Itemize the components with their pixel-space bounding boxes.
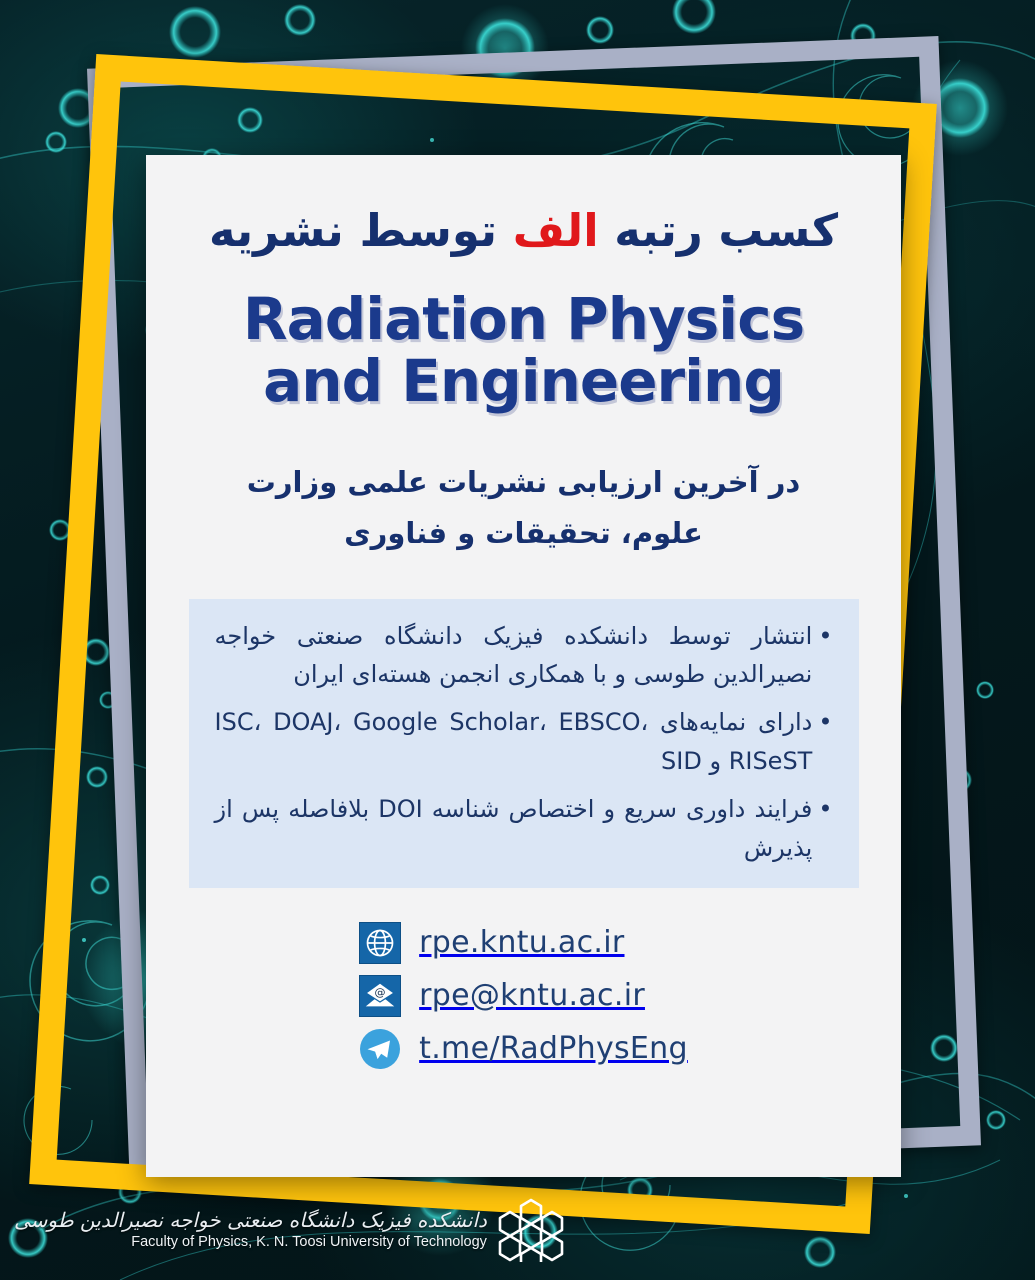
- contact-website[interactable]: rpe.kntu.ac.ir: [359, 922, 688, 964]
- branding-text: دانشکده فیزیک دانشگاه صنعتی خواجه نصیرال…: [14, 1208, 487, 1250]
- feature-text: فرایند داوری سریع و اختصاص شناسه DOI بلا…: [215, 790, 813, 868]
- features-box: • انتشار توسط دانشکده فیزیک دانشگاه صنعت…: [189, 599, 859, 888]
- list-item: • دارای نمایه‌های ISC، DOAJ، Google Scho…: [215, 703, 833, 781]
- envelope-icon: @: [359, 975, 401, 1017]
- faculty-name-english: Faculty of Physics, K. N. Toosi Universi…: [131, 1234, 487, 1250]
- subtitle-persian: در آخرین ارزیابی نشریات علمی وزارت علوم،…: [204, 457, 844, 559]
- headline-part-after: توسط نشریه: [209, 204, 513, 257]
- journal-title: Radiation Physics and Engineering: [204, 288, 844, 413]
- list-item: • انتشار توسط دانشکده فیزیک دانشگاه صنعت…: [215, 617, 833, 695]
- list-item: • فرایند داوری سریع و اختصاص شناسه DOI ب…: [215, 790, 833, 868]
- headline-persian: کسب رتبه الف توسط نشریه: [209, 201, 838, 262]
- email-label: rpe@kntu.ac.ir: [419, 978, 645, 1013]
- poster-canvas: کسب رتبه الف توسط نشریه Radiation Physic…: [0, 0, 1035, 1280]
- telegram-label: t.me/RadPhysEng: [419, 1031, 688, 1066]
- headline-grade-accent: الف: [513, 204, 599, 257]
- bullet-marker-icon: •: [818, 703, 832, 742]
- contact-email[interactable]: @ rpe@kntu.ac.ir: [359, 975, 688, 1017]
- feature-text: دارای نمایه‌های ISC، DOAJ، Google Schola…: [215, 703, 813, 781]
- svg-text:@: @: [375, 986, 386, 999]
- website-label: rpe.kntu.ac.ir: [419, 925, 624, 960]
- feature-text: انتشار توسط دانشکده فیزیک دانشگاه صنعتی …: [215, 617, 813, 695]
- bullet-marker-icon: •: [818, 617, 832, 656]
- telegram-icon: [359, 1028, 401, 1070]
- kntu-hexagon-logo-icon: [497, 1196, 565, 1262]
- globe-icon: [359, 922, 401, 964]
- university-branding: دانشکده فیزیک دانشگاه صنعتی خواجه نصیرال…: [14, 1196, 565, 1262]
- faculty-name-persian: دانشکده فیزیک دانشگاه صنعتی خواجه نصیرال…: [14, 1208, 487, 1232]
- main-content-card: کسب رتبه الف توسط نشریه Radiation Physic…: [146, 155, 901, 1177]
- headline-part-before: کسب رتبه: [599, 204, 838, 257]
- contact-links: rpe.kntu.ac.ir @ rpe@kntu.ac.ir: [359, 922, 688, 1070]
- bullet-marker-icon: •: [818, 790, 832, 829]
- contact-telegram[interactable]: t.me/RadPhysEng: [359, 1028, 688, 1070]
